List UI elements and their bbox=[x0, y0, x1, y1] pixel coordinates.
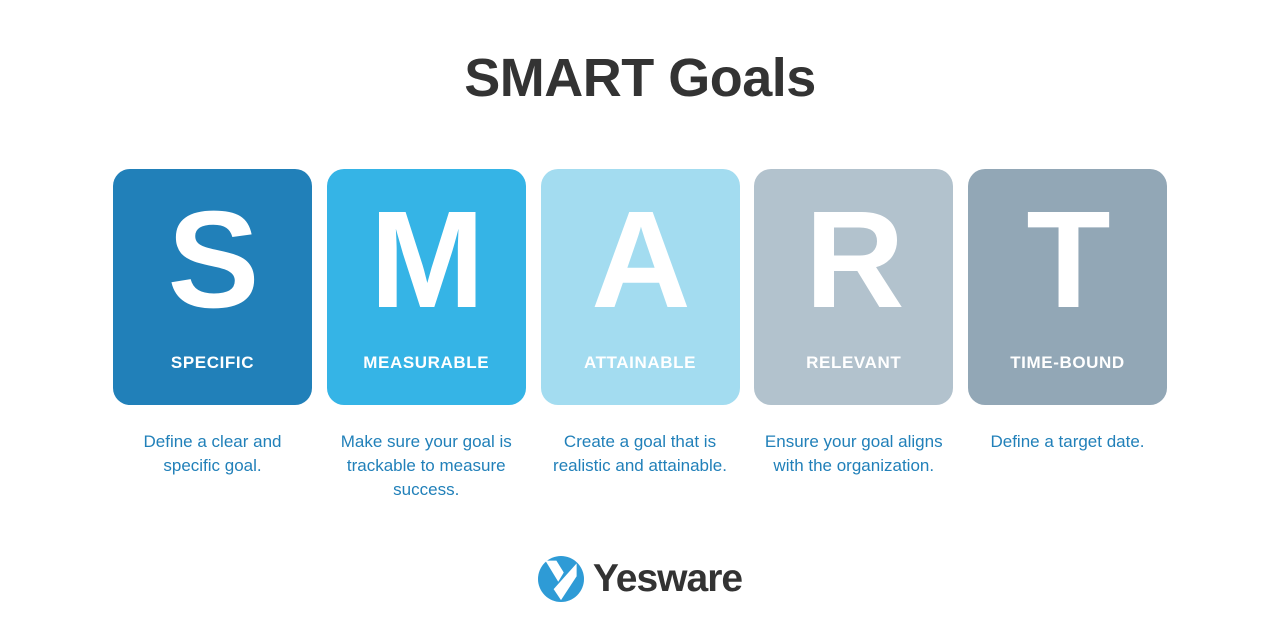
card-label: TIME-BOUND bbox=[968, 353, 1167, 373]
smart-goals-infographic: SMART Goals S SPECIFIC M MEASURABLE A AT… bbox=[0, 0, 1280, 642]
card-letter: M bbox=[370, 191, 483, 329]
caption-attainable: Create a goal that is realistic and atta… bbox=[541, 430, 740, 502]
card-label: RELEVANT bbox=[754, 353, 953, 373]
page-title: SMART Goals bbox=[0, 46, 1280, 110]
smart-card-measurable: M MEASURABLE bbox=[327, 169, 526, 405]
card-label: MEASURABLE bbox=[327, 353, 526, 373]
smart-card-attainable: A ATTAINABLE bbox=[541, 169, 740, 405]
caption-measurable: Make sure your goal is trackable to meas… bbox=[327, 430, 526, 502]
card-label: SPECIFIC bbox=[113, 353, 312, 373]
card-letter: R bbox=[805, 191, 903, 329]
smart-card-time-bound: T TIME-BOUND bbox=[968, 169, 1167, 405]
smart-cards-row: S SPECIFIC M MEASURABLE A ATTAINABLE R R… bbox=[113, 169, 1167, 405]
caption-time-bound: Define a target date. bbox=[968, 430, 1167, 502]
yesware-logo-icon bbox=[538, 556, 584, 602]
card-label: ATTAINABLE bbox=[541, 353, 740, 373]
captions-row: Define a clear and specific goal. Make s… bbox=[113, 430, 1167, 502]
caption-specific: Define a clear and specific goal. bbox=[113, 430, 312, 502]
yesware-logo: Yesware bbox=[0, 556, 1280, 602]
card-letter: T bbox=[1026, 191, 1108, 329]
card-letter: A bbox=[591, 191, 689, 329]
smart-card-specific: S SPECIFIC bbox=[113, 169, 312, 405]
yesware-wordmark: Yesware bbox=[593, 556, 742, 602]
smart-card-relevant: R RELEVANT bbox=[754, 169, 953, 405]
card-letter: S bbox=[167, 191, 257, 329]
caption-relevant: Ensure your goal aligns with the organiz… bbox=[754, 430, 953, 502]
